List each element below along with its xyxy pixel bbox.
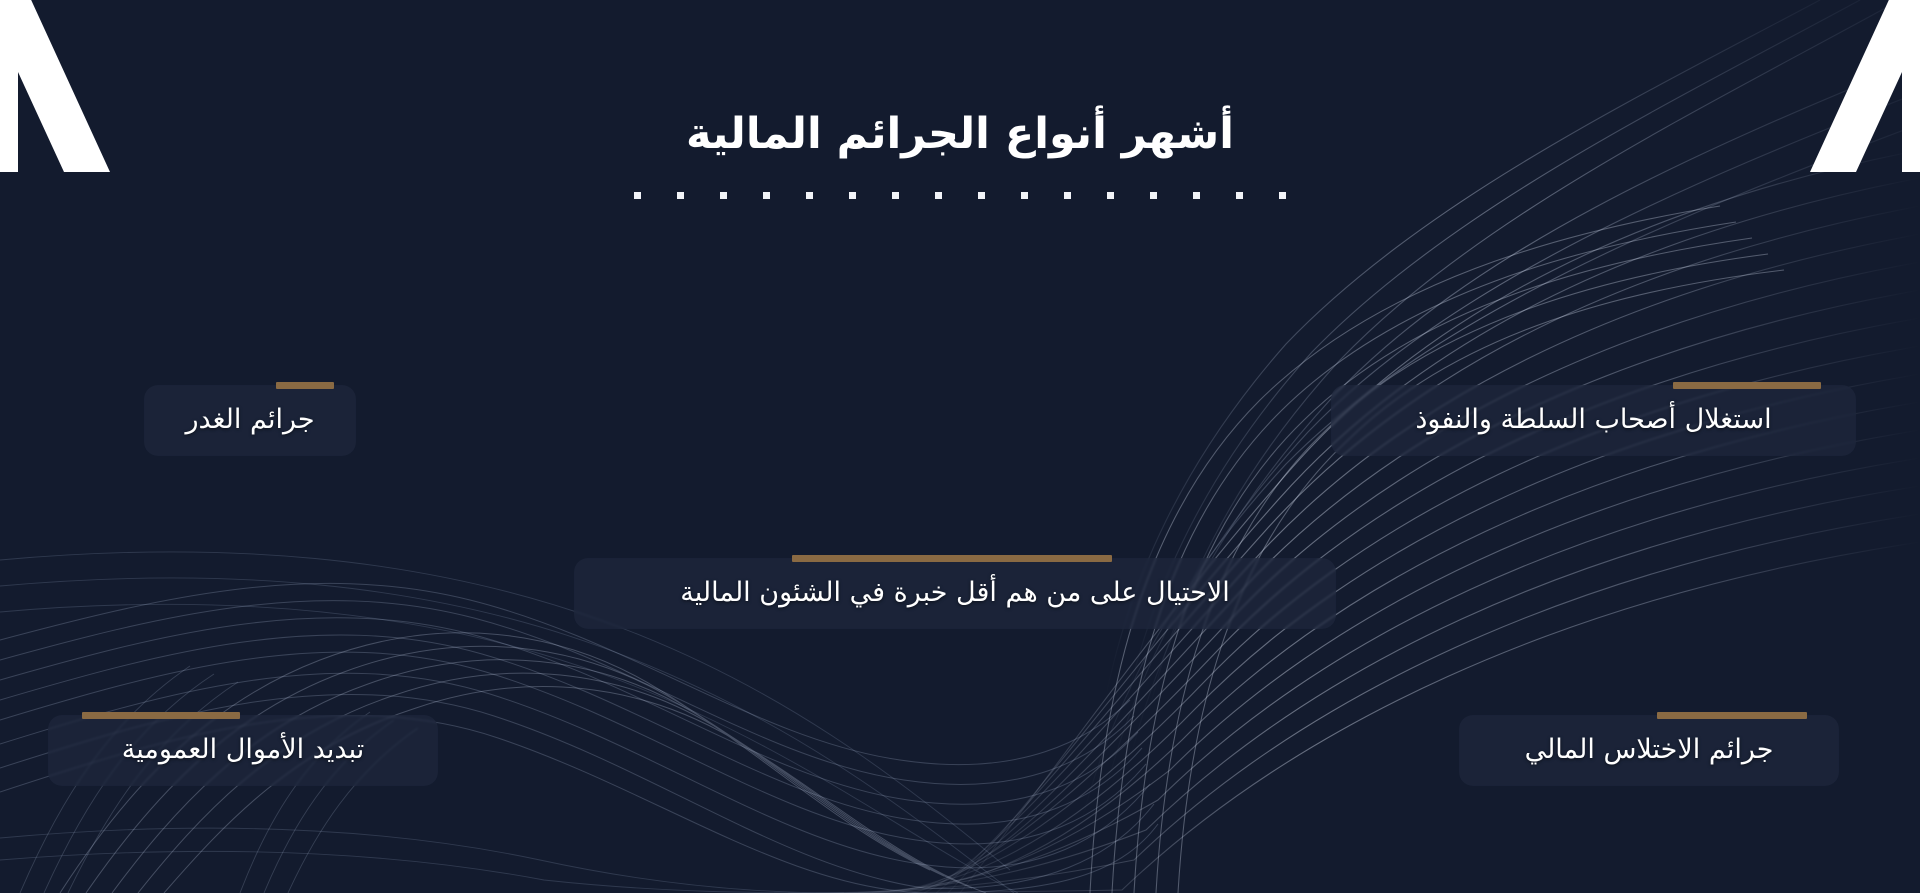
- separator-dot: [763, 192, 770, 199]
- card-accent-bar: [1673, 382, 1821, 389]
- crime-card[interactable]: الاحتيال على من هم أقل خبرة في الشئون ال…: [574, 558, 1336, 629]
- crime-card[interactable]: جرائم الغدر: [144, 385, 356, 456]
- separator-dot: [1107, 192, 1114, 199]
- header-block: أشهر أنواع الجرائم المالية: [0, 0, 1920, 199]
- separator-dot: [677, 192, 684, 199]
- crime-card-label: الاحتيال على من هم أقل خبرة في الشئون ال…: [680, 575, 1229, 611]
- separator-dot: [935, 192, 942, 199]
- separator-dot: [1236, 192, 1243, 199]
- crime-card-label: جرائم الاختلاس المالي: [1525, 732, 1774, 768]
- dot-separator: [0, 192, 1920, 199]
- slide-canvas: أشهر أنواع الجرائم المالية جرائم الغدر ا…: [0, 0, 1920, 893]
- separator-dot: [849, 192, 856, 199]
- crime-card-label: استغلال أصحاب السلطة والنفوذ: [1415, 402, 1771, 438]
- separator-dot: [1279, 192, 1286, 199]
- crime-card[interactable]: استغلال أصحاب السلطة والنفوذ: [1331, 385, 1856, 456]
- crime-card[interactable]: جرائم الاختلاس المالي: [1459, 715, 1839, 786]
- separator-dot: [720, 192, 727, 199]
- separator-dot: [634, 192, 641, 199]
- card-accent-bar: [276, 382, 334, 389]
- card-accent-bar: [1657, 712, 1807, 719]
- separator-dot: [978, 192, 985, 199]
- separator-dot: [1150, 192, 1157, 199]
- separator-dot: [806, 192, 813, 199]
- separator-dot: [1193, 192, 1200, 199]
- crime-card[interactable]: تبديد الأموال العمومية: [48, 715, 438, 786]
- separator-dot: [892, 192, 899, 199]
- card-accent-bar: [82, 712, 240, 719]
- page-title: أشهر أنواع الجرائم المالية: [0, 108, 1920, 162]
- crime-card-label: تبديد الأموال العمومية: [122, 732, 365, 768]
- separator-dot: [1064, 192, 1071, 199]
- crime-card-label: جرائم الغدر: [185, 402, 314, 438]
- separator-dot: [1021, 192, 1028, 199]
- card-accent-bar: [792, 555, 1112, 562]
